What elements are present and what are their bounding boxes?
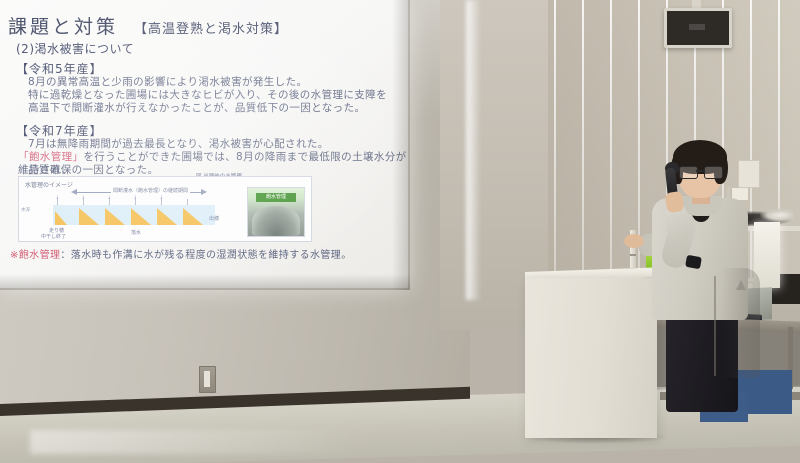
irrigation-marker-icon: ↓ <box>107 195 111 201</box>
presenter-hand-holding-microphone <box>665 191 685 213</box>
block-1-line-3: 高温下で間断灌水が行えなかったことが、品質低下の一因となった。 <box>28 102 365 115</box>
diagram-foot-left2: 中干し終了 <box>41 233 66 240</box>
photo-caption-label: 飽水管理 <box>256 193 296 202</box>
block-1-line-1: 8月の異常高温と少雨の影響により渇水被害が発生した。 <box>28 76 307 89</box>
irrigation-marker-icon: ↓ <box>133 195 137 201</box>
jacket-zipper-seam <box>714 276 716 376</box>
block-2-heading: 【令和7年産】 <box>16 122 103 139</box>
footnote-highlight: 飽水管理 <box>19 250 61 261</box>
irrigation-marker-icon: ↓ <box>159 195 163 201</box>
diagram-title: 水管理のイメージ <box>25 180 73 189</box>
glasses-icon <box>678 166 722 177</box>
speaker-grille-icon <box>689 24 705 30</box>
screen-bottom-edge-shadow <box>0 274 410 290</box>
slide-section-label: (2)渇水被害について <box>16 40 134 57</box>
slide-title-row: 課題と対策 【高温登熟と渇水対策】 <box>8 12 288 39</box>
field-photo: 飽水管理 <box>247 187 305 237</box>
irrigation-marker-icon: ↓ <box>81 195 85 201</box>
floor-reflection <box>30 430 360 454</box>
glasses-left-lens <box>679 166 698 179</box>
block-2-line-1: 7月は無降雨期間が過去最長となり、渇水被害が心配された。 <box>28 138 329 151</box>
diagram-foot-right: 出穂 <box>209 215 219 222</box>
block-1-line-2: 特に過乾燥となった圃場には大きなヒビが入り、その後の水管理に支障を <box>28 89 387 102</box>
ceiling-speaker <box>664 8 732 48</box>
diagram-arrow-label: 間断灌水（飽水管理）の継続期間 <box>111 187 190 194</box>
presenter-left-hand <box>624 234 644 248</box>
wall-corner-highlight <box>466 0 480 300</box>
slide-subtitle: 【高温登熟と渇水対策】 <box>134 18 288 37</box>
projection-screen: 課題と対策 【高温登熟と渇水対策】 (2)渇水被害について 【令和5年産】 8月… <box>0 0 408 288</box>
footnote-prefix: ※ <box>10 250 19 261</box>
wristwatch-icon <box>685 255 702 269</box>
glasses-right-lens <box>704 166 723 179</box>
arrow-right-head-icon <box>201 189 207 195</box>
wall-outlet <box>199 366 216 393</box>
screen-right-edge-shadow <box>392 0 410 290</box>
slide-footnote: ※飽水管理：落水時も作溝に水が残る程度の湿潤状態を維持する水管理。 <box>10 246 352 261</box>
presenter <box>640 140 780 440</box>
diagram-axis-label: 水深 <box>21 207 30 213</box>
diagram-foot-center: 落水 <box>131 229 141 236</box>
presentation-slide: 課題と対策 【高温登熟と渇水対策】 (2)渇水被害について 【令和5年産】 8月… <box>0 0 408 288</box>
irrigation-marker-icon: ↓ <box>55 195 59 201</box>
footnote-rest: ：落水時も作溝に水が残る程度の湿潤状態を維持する水管理。 <box>60 250 351 261</box>
slide-title: 課題と対策 <box>8 12 118 39</box>
white-podium <box>525 278 657 438</box>
water-management-diagram: 水管理のイメージ 間断灌水（飽水管理）の継続期間 水深 <box>18 176 312 242</box>
lecture-room-scene: 課題と対策 【高温登熟と渇水対策】 (2)渇水被害について 【令和5年産】 8月… <box>0 0 800 463</box>
diagram-water-band <box>53 205 215 225</box>
photo-soil-surface <box>252 206 300 236</box>
glasses-bridge <box>696 170 704 172</box>
block-1-heading: 【令和5年産】 <box>16 60 103 77</box>
block-2-highlight: 「飽水管理」 <box>18 151 83 163</box>
